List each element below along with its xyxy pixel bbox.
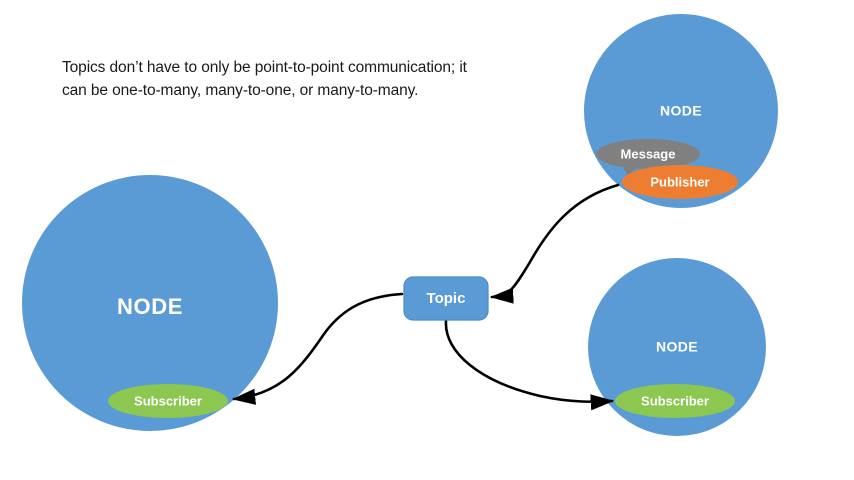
subscriber-left[interactable]: Subscriber (108, 384, 228, 418)
arrow-publisher-to-topic (492, 185, 618, 297)
node-bottom-right[interactable]: NODE Subscriber (588, 258, 766, 436)
topic-box-label: Topic (427, 290, 466, 307)
message-bubble-label: Message (621, 146, 676, 161)
diagram-svg: NODE Subscriber NODE Message Publisher N (0, 0, 854, 480)
node-left[interactable]: NODE Subscriber (22, 175, 278, 431)
node-bottom-right-label: NODE (656, 339, 698, 355)
subscriber-left-label: Subscriber (134, 393, 202, 408)
subscriber-bottom-right-label: Subscriber (641, 393, 709, 408)
topic-box[interactable]: Topic (404, 277, 488, 320)
subscriber-bottom-right[interactable]: Subscriber (615, 384, 735, 418)
publisher-label: Publisher (650, 174, 709, 189)
node-left-label: NODE (117, 294, 183, 319)
publisher-top-right[interactable]: Publisher (622, 165, 738, 199)
arrow-topic-to-subscriber-bottom-right (446, 321, 612, 402)
node-top-right[interactable]: NODE Message Publisher (584, 14, 778, 208)
node-top-right-label: NODE (660, 103, 702, 119)
slide-canvas: Topics don’t have to only be point-to-po… (0, 0, 854, 480)
